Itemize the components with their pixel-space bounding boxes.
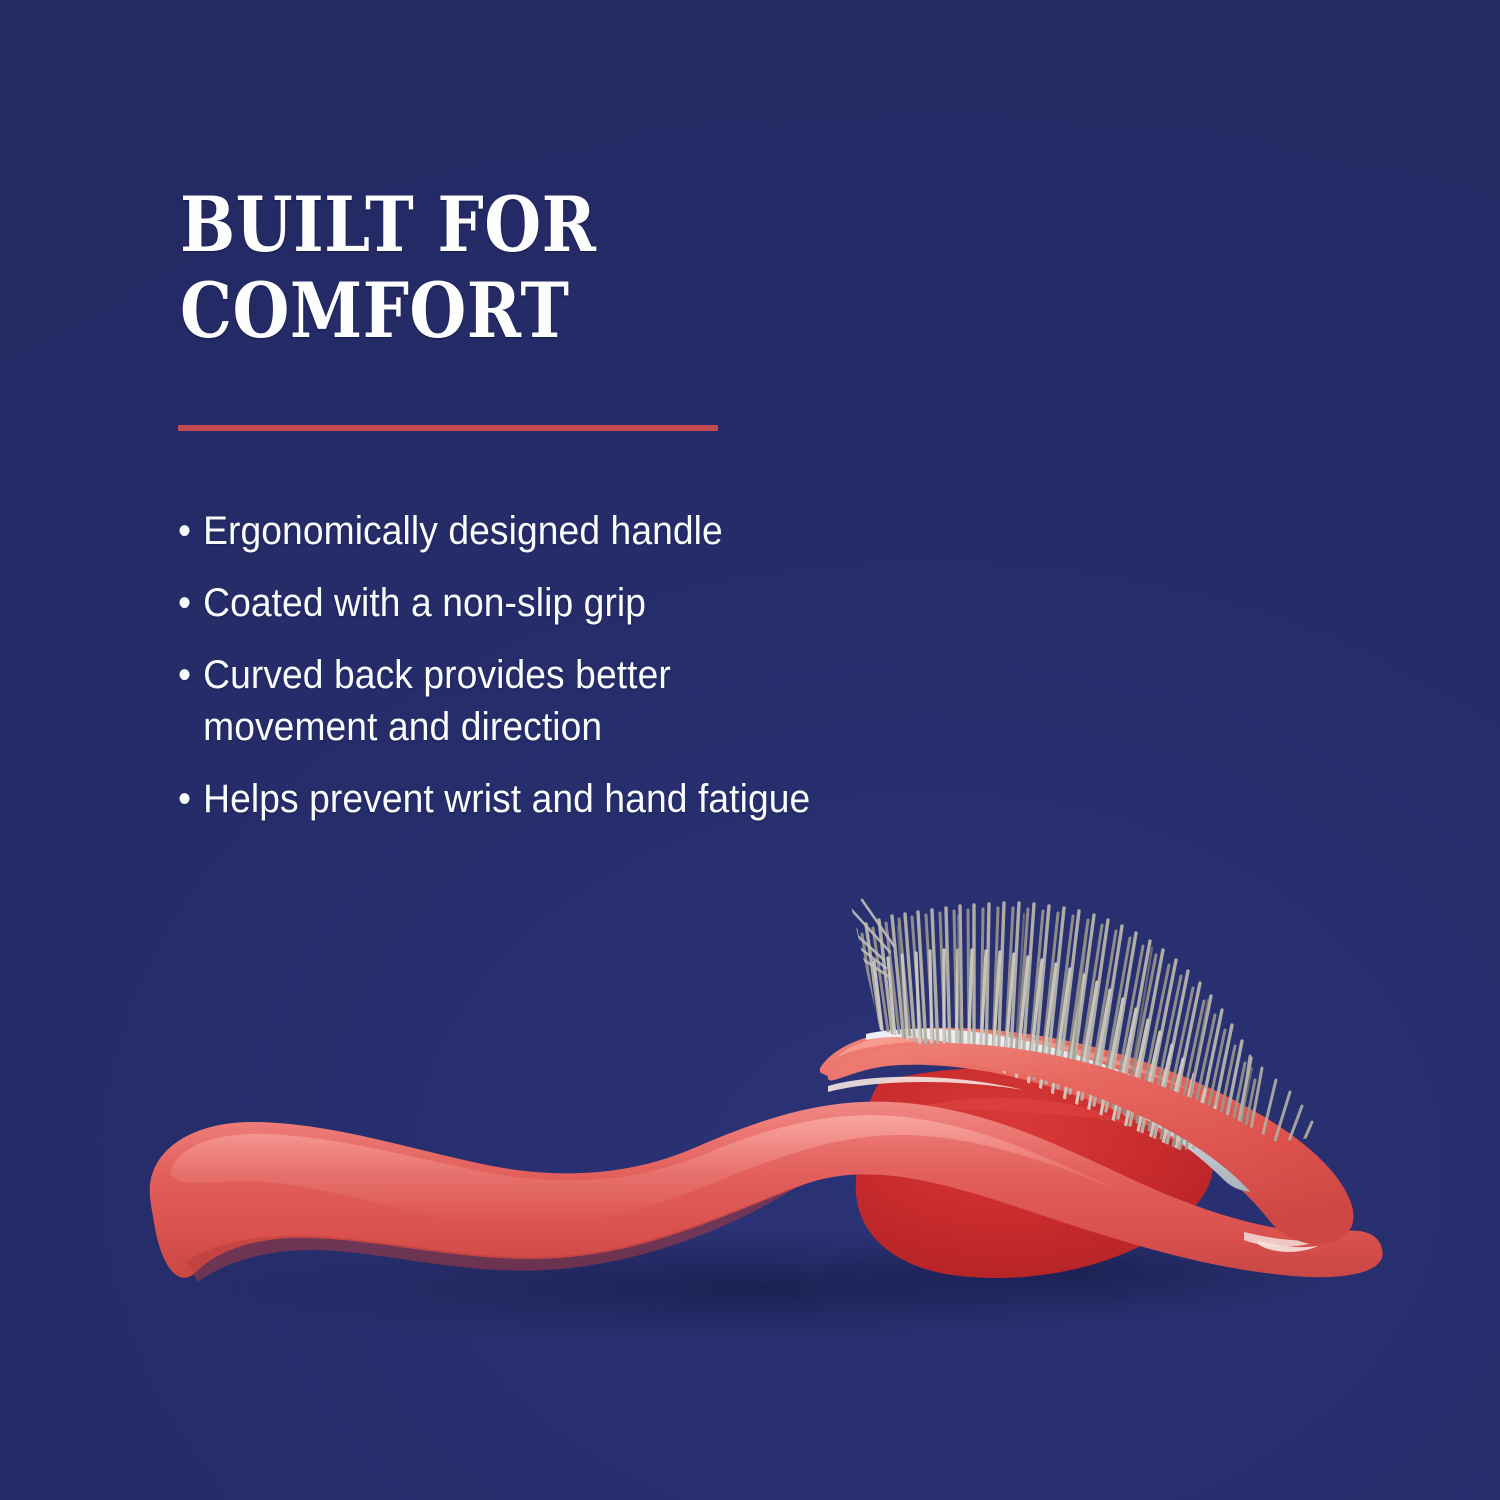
list-item-label: Curved back provides better movement and… [203,649,1015,753]
bullet-icon: • [178,577,203,629]
list-item: • Ergonomically designed handle [178,505,1015,557]
product-feature-graphic: BUILT FOR COMFORT • Ergonomically design… [0,0,1500,1500]
bullet-icon: • [178,649,203,701]
list-item: • Helps prevent wrist and hand fatigue [178,773,1015,825]
page-title: BUILT FOR COMFORT [180,182,782,354]
accent-divider [178,425,718,431]
list-item: • Coated with a non-slip grip [178,577,1015,629]
list-item-label: Coated with a non-slip grip [203,577,1015,629]
list-item-label: Helps prevent wrist and hand fatigue [203,773,1015,825]
feature-list: • Ergonomically designed handle • Coated… [178,505,1015,845]
list-item: • Curved back provides better movement a… [178,649,1015,753]
list-item-label: Ergonomically designed handle [203,505,1015,557]
bullet-icon: • [178,505,203,557]
bullet-icon: • [178,773,203,825]
